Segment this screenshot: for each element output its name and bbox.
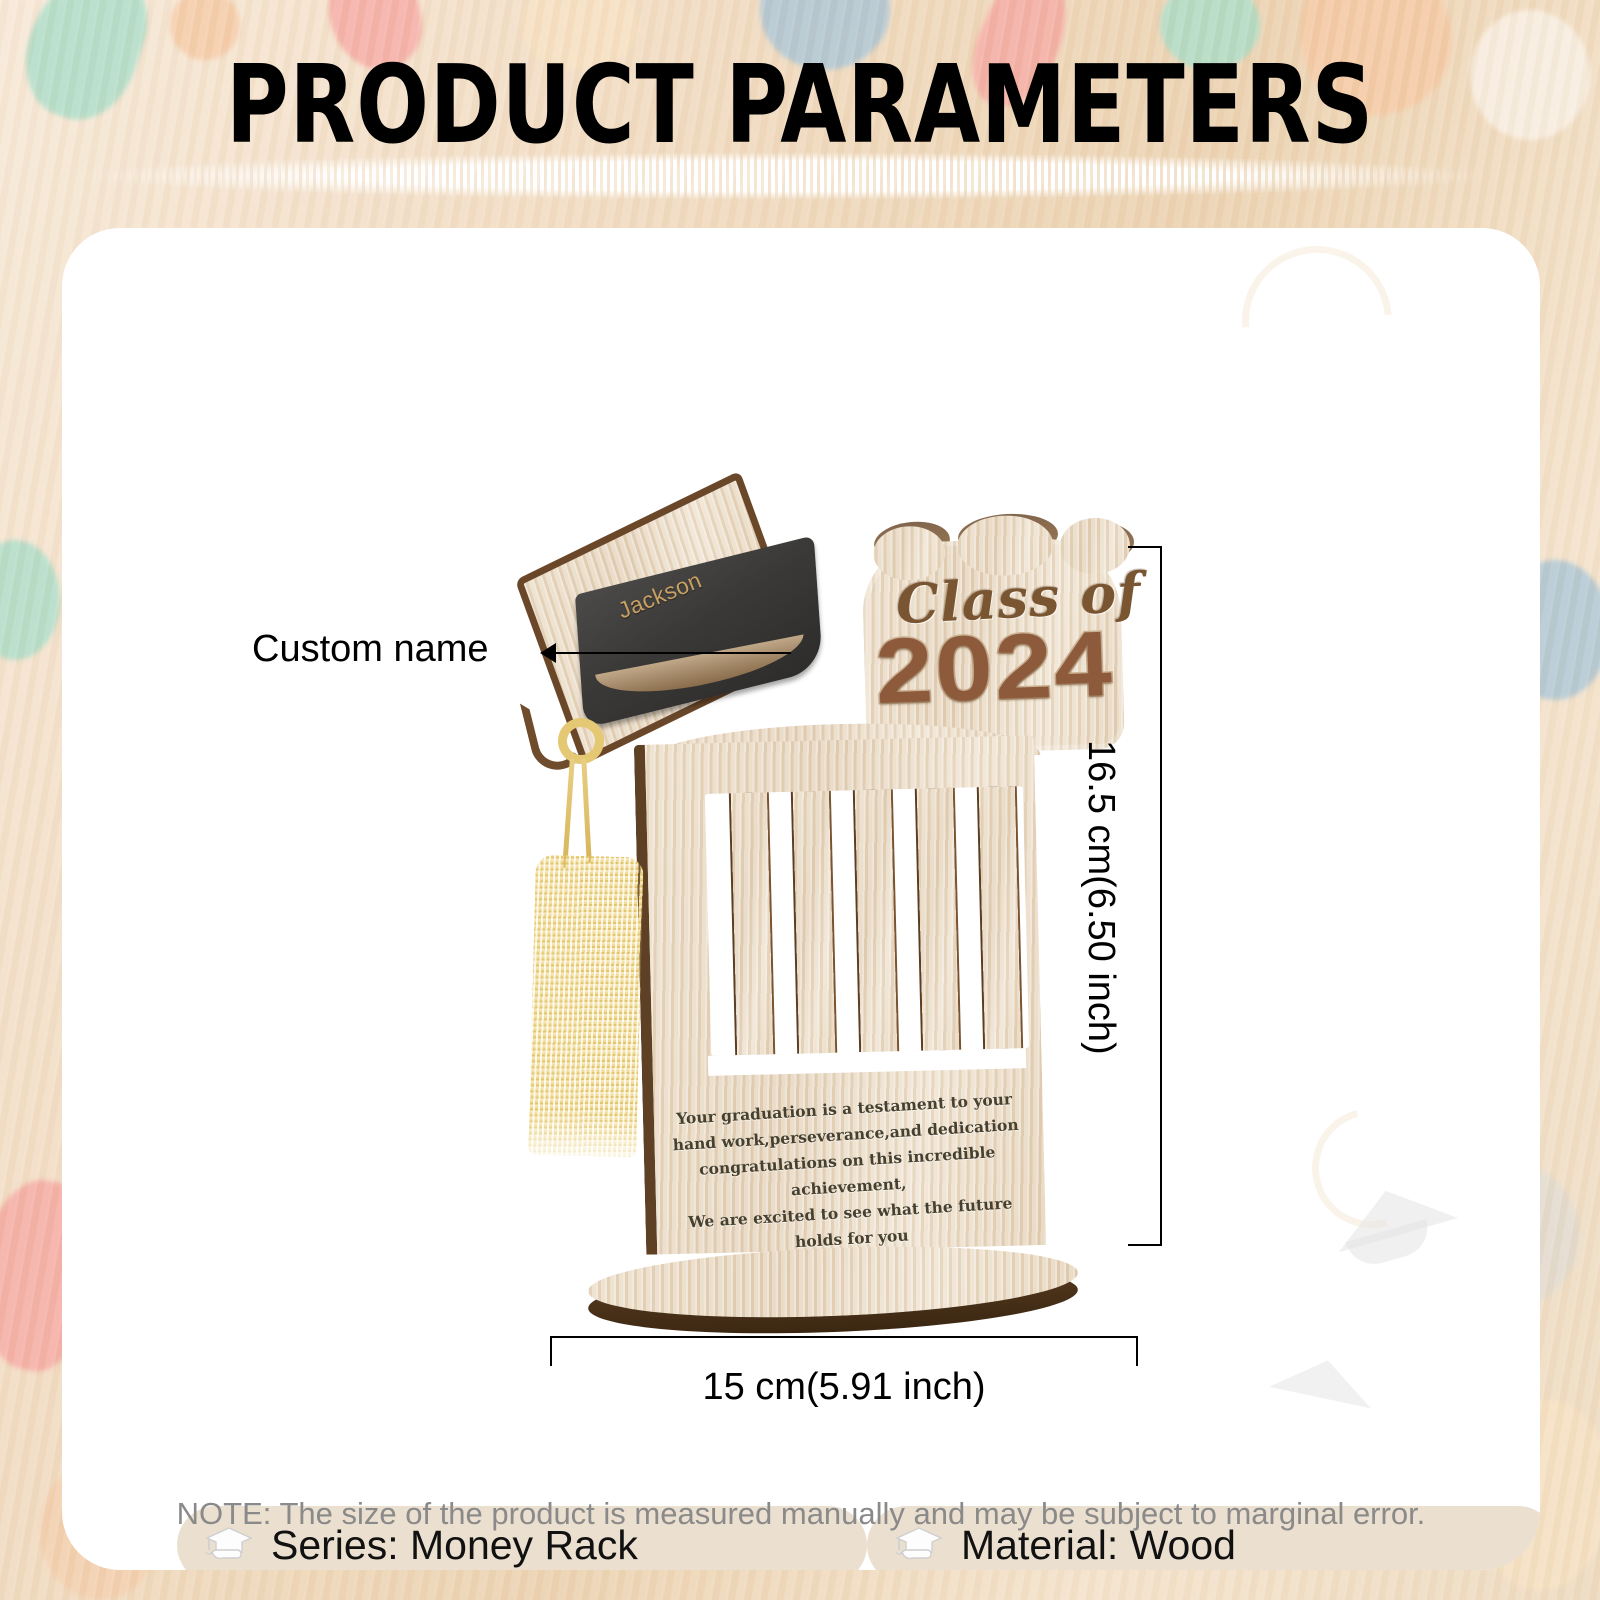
callout-leader-line (551, 652, 791, 654)
custom-name-callout-label: Custom name (252, 628, 489, 671)
graduation-year-text: 2024 (874, 618, 1115, 718)
height-dimension-label: 16.5 cm(6.50 inch) (1079, 740, 1122, 1140)
measurement-note: NOTE: The size of the product is measure… (62, 1496, 1540, 1532)
arrow-left-icon (540, 643, 556, 663)
height-dimension-line (1160, 546, 1162, 1246)
slot-divider (731, 792, 773, 1055)
engraved-message: Your graduation is a testament to your h… (658, 1085, 1039, 1263)
content-card: Class of 2024 Your graduation is a testa… (62, 228, 1540, 1570)
confetti-shape (0, 540, 60, 660)
slot-divider (917, 788, 959, 1051)
swirl-watermark-icon (1211, 228, 1422, 427)
width-dimension-tick (550, 1336, 552, 1366)
money-slot-area (705, 786, 1029, 1056)
slot-divider (979, 786, 1021, 1049)
height-dimension-tick (1128, 546, 1162, 548)
slot-divider (855, 789, 897, 1052)
width-dimension-tick (1136, 1336, 1138, 1366)
slot-divider (793, 791, 835, 1054)
title-banner: PRODUCT PARAMETERS (0, 42, 1600, 172)
graduation-cap-watermark-icon (1269, 1350, 1379, 1409)
height-dimension-tick (1128, 1244, 1162, 1246)
width-dimension-label: 15 cm(5.91 inch) (550, 1366, 1138, 1409)
tassel-cord (581, 758, 591, 863)
width-dimension-line (550, 1336, 1138, 1338)
tassel-threads (528, 855, 644, 1158)
page-title: PRODUCT PARAMETERS (96, 42, 1504, 170)
tassel-cord (562, 758, 575, 868)
